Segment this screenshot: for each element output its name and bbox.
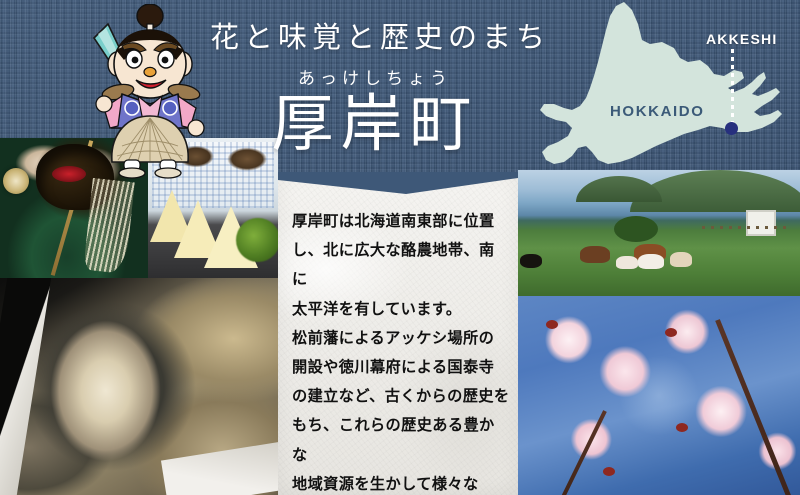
sakura-bud bbox=[546, 320, 558, 329]
akkeshi-marker-line bbox=[731, 49, 734, 125]
hand bbox=[188, 120, 204, 136]
akkeshi-town-poster: HOKKAIDO AKKESHI bbox=[0, 0, 800, 495]
coastal-pasture-horses-photo bbox=[518, 170, 800, 296]
hokkaido-map-svg: HOKKAIDO bbox=[528, 0, 800, 180]
crest-icon bbox=[125, 101, 139, 115]
lion-mane bbox=[83, 178, 134, 274]
cherry-blossoms-photo bbox=[518, 296, 800, 495]
oysters-photo bbox=[0, 278, 278, 495]
horse bbox=[580, 246, 610, 263]
tagline: 花と味覚と歴史のまち bbox=[210, 14, 540, 56]
furigana: あっけしちょう bbox=[210, 64, 540, 89]
description-line: 開設や徳川幕府による国泰寺 bbox=[292, 353, 510, 382]
description-text: 厚岸町は北海道南東部に位置 し、北に広大な酪農地帯、南に 太平洋を有しています。… bbox=[292, 207, 510, 495]
description-line: 厚岸町は北海道南東部に位置 bbox=[292, 207, 510, 236]
akkeshi-marker-dot bbox=[725, 122, 738, 135]
description-line: 松前藩によるアッケシ場所の bbox=[292, 324, 510, 353]
fence bbox=[702, 226, 786, 229]
crest-icon bbox=[163, 101, 177, 115]
sandal bbox=[155, 168, 181, 178]
sakura-bud bbox=[676, 423, 688, 432]
akkeshi-samurai-mascot bbox=[88, 4, 212, 180]
sakura-branch bbox=[716, 319, 796, 495]
paper-top-chevron-notch bbox=[278, 172, 518, 194]
sakura-bud bbox=[665, 328, 677, 337]
mascot-svg bbox=[88, 4, 212, 180]
oyster-tray-edge bbox=[0, 278, 51, 495]
nose bbox=[144, 67, 156, 76]
hokkaido-label: HOKKAIDO bbox=[610, 103, 704, 120]
hokkaido-landmass-icon bbox=[540, 2, 782, 164]
town-name-title: 厚岸町 bbox=[210, 91, 540, 160]
description-line: 地域資源を生かして様々な bbox=[292, 470, 510, 495]
tree bbox=[614, 216, 658, 242]
description-line: し、北に広大な酪農地帯、南に bbox=[292, 236, 510, 294]
horse bbox=[520, 254, 542, 268]
description-line: 太平洋を有しています。 bbox=[292, 295, 510, 324]
sandal bbox=[119, 168, 145, 178]
signboard bbox=[746, 210, 776, 236]
akkeshi-marker-label: AKKESHI bbox=[706, 31, 777, 47]
horse bbox=[670, 252, 692, 267]
parsley-garnish bbox=[236, 218, 278, 262]
title-block: 花と味覚と歴史のまち あっけしちょう 厚岸町 bbox=[210, 14, 540, 160]
description-line: の建立など、古くからの歴史を bbox=[292, 382, 510, 411]
sakura-branch bbox=[555, 411, 607, 495]
horse bbox=[638, 254, 664, 269]
festival-bell-icon bbox=[3, 168, 29, 194]
horse bbox=[616, 256, 638, 269]
hokkaido-map: HOKKAIDO bbox=[528, 0, 800, 180]
description-line: もち、これらの歴史ある豊かな bbox=[292, 411, 510, 469]
hand bbox=[96, 96, 112, 112]
oyster-tray-edge bbox=[161, 442, 278, 495]
sakura-bud bbox=[603, 467, 615, 476]
